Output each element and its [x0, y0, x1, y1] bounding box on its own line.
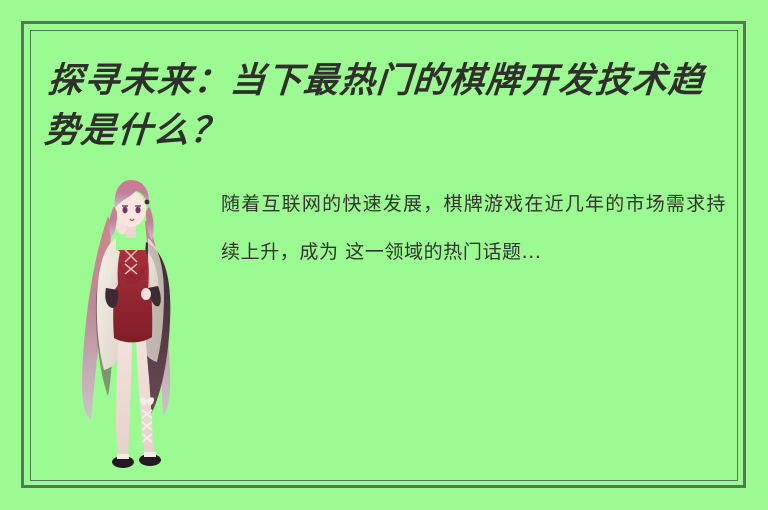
- page-title: 探寻未来：当下最热门的棋牌开发技术趋势是什么？: [43, 56, 740, 156]
- poster-canvas: 探寻未来：当下最热门的棋牌开发技术趋势是什么？ 随着互联网的快速发展，棋牌游戏在…: [0, 0, 768, 510]
- anime-girl-illustration: [62, 172, 194, 478]
- body-paragraph: 随着互联网的快速发展，棋牌游戏在近几年的市场需求持续上升，成为 这一领域的热门话…: [221, 180, 726, 276]
